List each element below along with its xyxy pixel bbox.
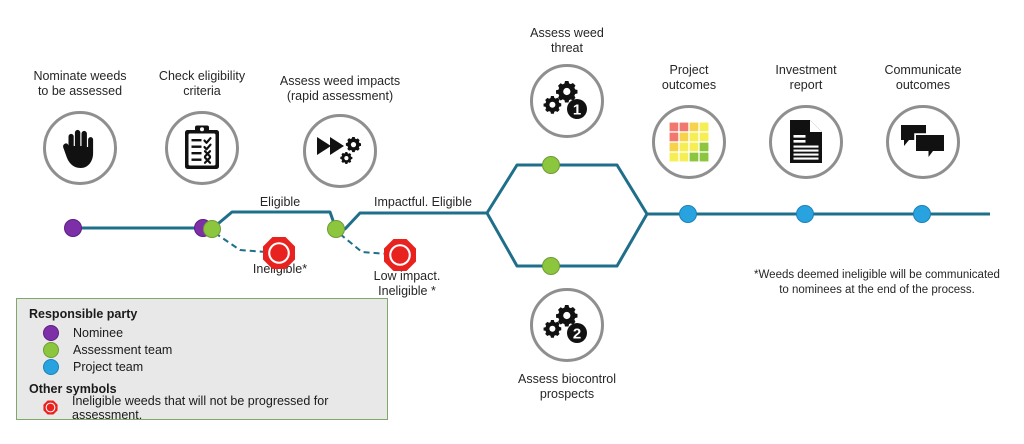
stage-assess-weed-impacts[interactable]: Assess weed impacts (rapid assessment) [265,74,415,188]
risk-matrix-icon [652,105,726,179]
legend-item-ineligible-stop: Ineligible weeds that will not be progre… [43,399,377,416]
stage-caption: Check eligibility criteria [127,69,277,99]
nominee-swatch-icon [43,325,59,341]
node-project-communicate[interactable] [914,206,931,223]
flow-segment-impactful [336,213,487,229]
document-icon [769,105,843,179]
gears-two-icon: 2 [530,288,604,362]
fast-forward-gears-icon [303,114,377,188]
footnote-ineligible-note: *Weeds deemed ineligible will be communi… [742,268,1012,298]
stage-check-eligibility[interactable]: Check eligibility criteria [127,69,277,185]
stop-sign-icon [43,400,58,415]
flow-hexagon-lower [487,213,647,266]
branch-label-eligible: Eligible [240,195,320,210]
legend-label: Assessment team [73,343,172,357]
assessment-team-swatch-icon [43,342,59,358]
node-assessment-biocontrol[interactable] [543,258,560,275]
speech-bubbles-icon [886,105,960,179]
node-nominee-start[interactable] [65,220,82,237]
svg-text:2: 2 [573,325,581,342]
branch-label-impactful-eligible: Impactful. Eligible [368,195,478,210]
branch-label-low-impact-ineligible: Low impact. Ineligible * [362,269,452,299]
flow-dashed-low-impact [340,234,388,254]
node-assessment-eligibility[interactable] [204,221,221,238]
legend-item-project-team: Project team [43,358,377,375]
process-flow-diagram: Nominate weeds to be assessed Check elig… [0,0,1024,444]
hand-icon [43,111,117,185]
project-team-swatch-icon [43,359,59,375]
clipboard-checklist-icon [165,111,239,185]
legend-label: Nominee [73,326,123,340]
flow-segment-eligible [213,212,336,229]
stage-caption: Assess weed impacts (rapid assessment) [265,74,415,104]
legend-title-responsible-party: Responsible party [29,307,377,321]
stop-sign-low-impact [383,238,417,272]
node-project-outcomes[interactable] [680,206,697,223]
node-assessment-threat[interactable] [543,157,560,174]
node-assessment-impacts[interactable] [328,221,345,238]
stage-assess-biocontrol[interactable]: 2 Assess biocontrol prospects [492,288,642,402]
gears-one-icon: 1 [530,64,604,138]
flow-dashed-ineligible [215,233,266,252]
legend-panel: Responsible party Nominee Assessment tea… [16,298,388,420]
stage-caption: Communicate outcomes [848,63,998,93]
legend-label: Project team [73,360,143,374]
svg-text:1: 1 [573,101,581,118]
stage-caption: Assess weed threat [492,26,642,56]
stop-sign-ineligible [262,236,296,270]
node-nominee-submit[interactable] [195,220,212,237]
stage-caption: Assess biocontrol prospects [492,372,642,402]
stage-communicate-outcomes[interactable]: Communicate outcomes [848,63,998,179]
legend-item-assessment-team: Assessment team [43,341,377,358]
legend-label: Ineligible weeds that will not be progre… [72,394,377,422]
node-project-report[interactable] [797,206,814,223]
legend-item-nominee: Nominee [43,324,377,341]
